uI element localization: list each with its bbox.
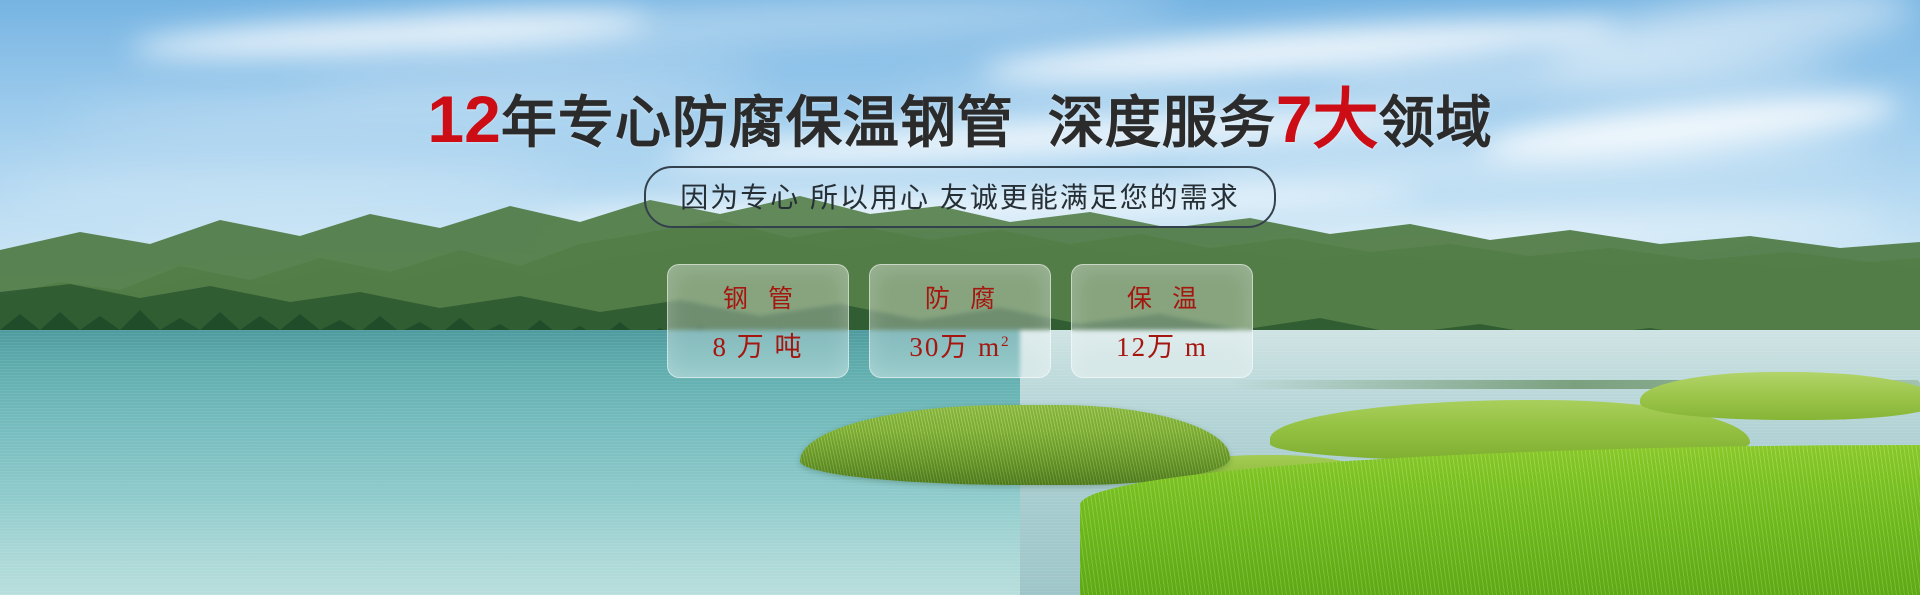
stat-card-insulation[interactable]: 保 温 12万 m — [1071, 264, 1253, 378]
headline-segment-one: 年专心防腐保温钢管 — [501, 91, 1014, 154]
stat-value-unit: 万 吨 — [737, 332, 804, 362]
headline-segment-three: 领域 — [1379, 91, 1493, 154]
stat-value: 12万 m — [1116, 325, 1208, 364]
stat-card-group: 钢 管 8 万 吨 防 腐 30万 m2 保 温 12万 m — [0, 264, 1920, 378]
stat-value-number: 8 — [713, 332, 729, 362]
stat-card-anticorrosion[interactable]: 防 腐 30万 m2 — [869, 264, 1051, 378]
headline-segment-two: 深度服务 — [1048, 91, 1276, 154]
hero-banner: 12年专心防腐保温钢管深度服务7大领域 因为专心 所以用心 友诚更能满足您的需求… — [0, 0, 1920, 595]
stat-label: 保 温 — [1120, 279, 1204, 315]
stat-value: 8 万 吨 — [713, 325, 804, 364]
stat-card-steel-pipe[interactable]: 钢 管 8 万 吨 — [667, 264, 849, 378]
stat-value-unit: 万 m — [940, 332, 1001, 362]
headline-years-number: 12 — [427, 82, 500, 156]
stat-value: 30万 m2 — [909, 325, 1010, 364]
stat-label: 防 腐 — [918, 279, 1002, 315]
stat-label: 钢 管 — [716, 279, 800, 315]
subtitle-pill: 因为专心 所以用心 友诚更能满足您的需求 — [644, 166, 1276, 228]
stat-value-number: 30 — [909, 332, 940, 362]
page-title: 12年专心防腐保温钢管深度服务7大领域 — [0, 84, 1920, 155]
stat-value-unit: 万 m — [1147, 332, 1208, 362]
stat-value-number: 12 — [1116, 332, 1147, 362]
stat-value-exponent: 2 — [1001, 334, 1011, 350]
subtitle-container: 因为专心 所以用心 友诚更能满足您的需求 — [0, 166, 1920, 228]
headline-fields-number: 7大 — [1276, 82, 1379, 156]
marsh-patch — [1640, 372, 1920, 420]
